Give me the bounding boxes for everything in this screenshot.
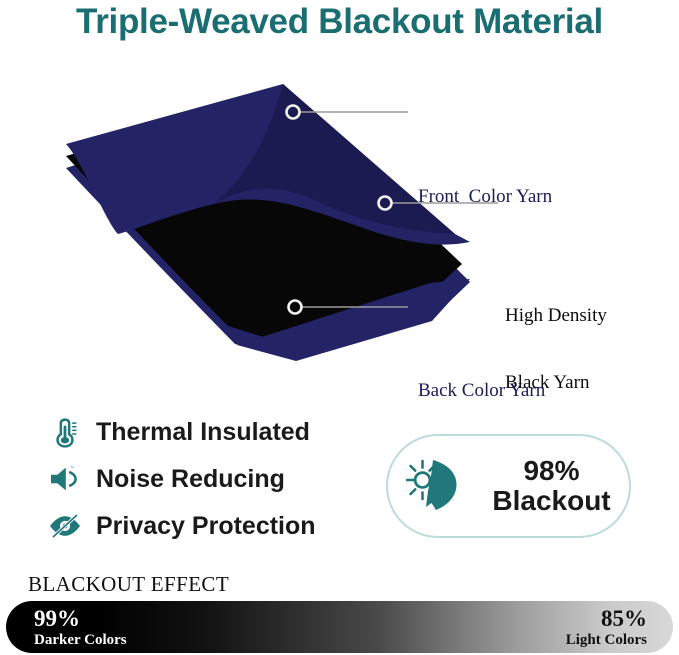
page-title: Triple-Weaved Blackout Material — [0, 2, 679, 42]
feature-list: Thermal Insulated Noise Reducing Privacy… — [44, 410, 374, 551]
feature-label-privacy-protection: Privacy Protection — [96, 512, 316, 541]
triple-layer-fabric-diagram: Front Color Yarn High Density Black Yarn… — [0, 82, 679, 362]
thermometer-icon — [44, 413, 86, 451]
feature-label-noise-reducing: Noise Reducing — [96, 465, 285, 494]
feature-item-privacy-protection: Privacy Protection — [44, 504, 374, 548]
gradient-bar-right-stat: 85% Light Colors — [566, 606, 647, 649]
light-colors-label: Light Colors — [566, 632, 647, 649]
blackout-percentage-badge: 98% Blackout — [386, 434, 631, 538]
feature-item-thermal-insulated: Thermal Insulated — [44, 410, 374, 454]
darker-colors-percent: 99% — [34, 606, 127, 632]
feature-label-thermal-insulated: Thermal Insulated — [96, 418, 310, 447]
blackout-effect-gradient-bar: 99% Darker Colors 85% Light Colors — [6, 601, 673, 653]
callout-label-front-color-yarn: Front Color Yarn — [418, 186, 552, 208]
callout-label-high-density-black-yarn: High Density Black Yarn — [505, 260, 607, 439]
callout-label-back-color-yarn: Back Color Yarn — [418, 380, 545, 402]
blackout-badge-text: 98% Blackout — [482, 456, 629, 515]
light-colors-percent: 85% — [566, 606, 647, 632]
darker-colors-label: Darker Colors — [34, 632, 127, 649]
blackout-effect-heading: BLACKOUT EFFECT — [28, 572, 229, 597]
callout-label-line-1: High Density — [505, 305, 607, 327]
feature-item-noise-reducing: Noise Reducing — [44, 457, 374, 501]
eye-slash-icon — [44, 507, 86, 545]
speaker-sound-icon — [44, 460, 86, 498]
sun-blocked-by-curtain-icon — [396, 455, 482, 517]
blackout-percent-value: 98% — [482, 456, 621, 486]
gradient-bar-left-stat: 99% Darker Colors — [34, 606, 127, 649]
blackout-word: Blackout — [482, 486, 621, 516]
